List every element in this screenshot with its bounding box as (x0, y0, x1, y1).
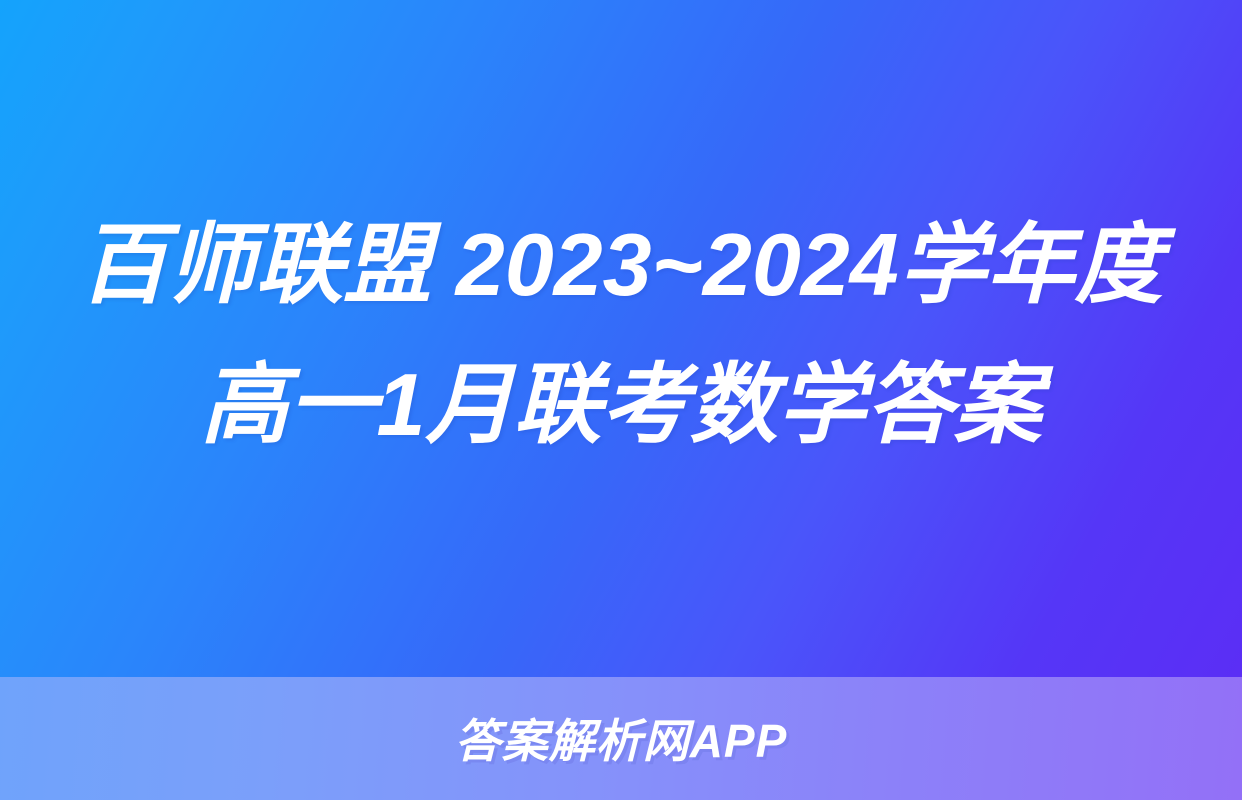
hero-gradient-background: 百师联盟 2023~2024学年度高一1月联考数学答案 (0, 0, 1242, 677)
answer-banner-card: 百师联盟 2023~2024学年度高一1月联考数学答案 答案解析网APP (0, 0, 1242, 800)
app-watermark-label: 答案解析网APP (455, 718, 788, 764)
page-title: 百师联盟 2023~2024学年度高一1月联考数学答案 (76, 195, 1166, 475)
watermark-band: 答案解析网APP (0, 677, 1242, 800)
